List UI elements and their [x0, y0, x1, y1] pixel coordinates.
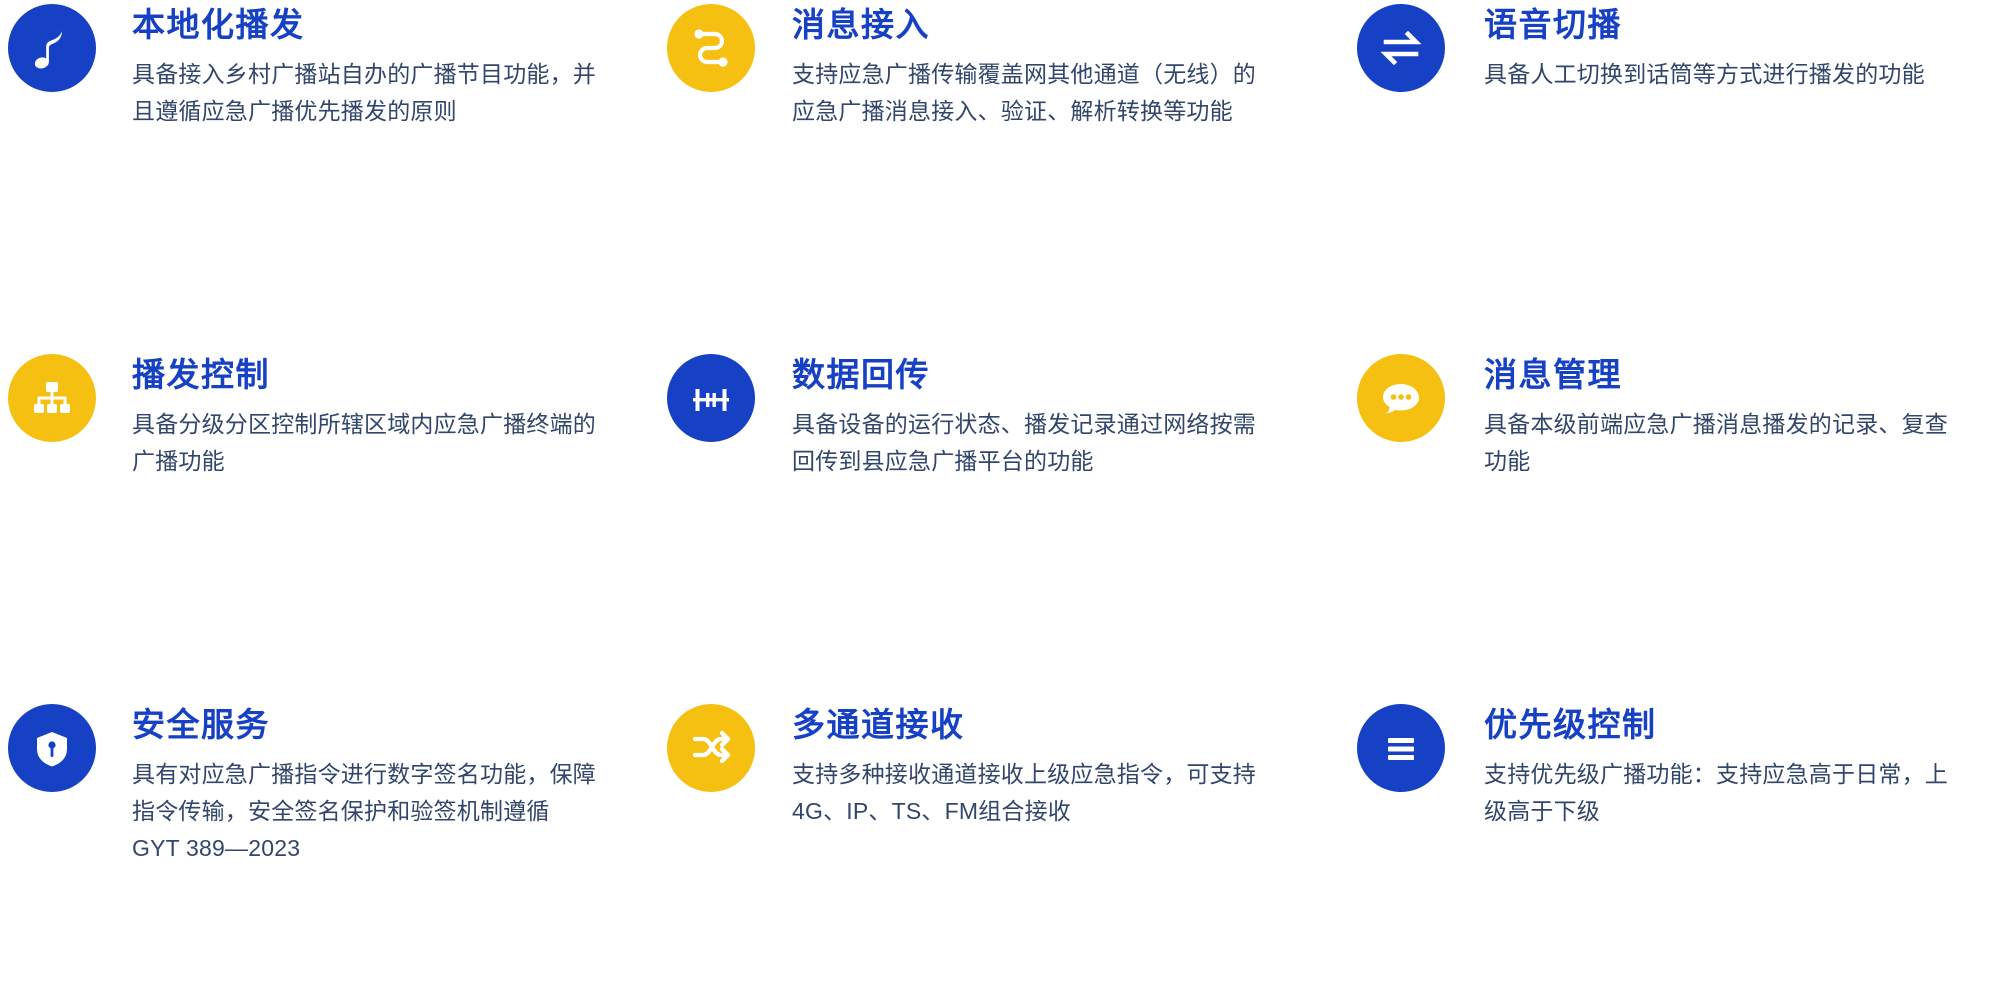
feature-text: 本地化播发 具备接入乡村广播站自办的广播节目功能，并且遵循应急广播优先播发的原则 [108, 4, 660, 130]
shuffle-icon [667, 704, 755, 792]
feature-description: 支持多种接收通道接收上级应急指令，可支持4G、IP、TS、FM组合接收 [792, 756, 1272, 831]
feature-text: 播发控制 具备分级分区控制所辖区域内应急广播终端的广播功能 [108, 354, 660, 480]
icon-container [0, 354, 108, 442]
icon-container [1350, 4, 1458, 92]
feature-text: 多通道接收 支持多种接收通道接收上级应急指令，可支持4G、IP、TS、FM组合接… [768, 704, 1350, 830]
feature-description: 具备接入乡村广播站自办的广播节目功能，并且遵循应急广播优先播发的原则 [132, 56, 602, 131]
icon-container [0, 4, 108, 92]
feature-title: 消息管理 [1484, 356, 2001, 394]
feature-title: 安全服务 [132, 706, 660, 744]
icon-container [0, 704, 108, 792]
music-note-icon [8, 4, 96, 92]
feature-text: 消息管理 具备本级前端应急广播消息播发的记录、复查功能 [1458, 354, 2001, 480]
icon-container [1350, 704, 1458, 792]
feature-description: 具有对应急广播指令进行数字签名功能，保障指令传输，安全签名保护和验签机制遵循 G… [132, 756, 602, 868]
feature-title: 语音切播 [1484, 6, 2001, 44]
feature-card-data-return[interactable]: 数据回传 具备设备的运行状态、播发记录通过网络按需回传到县应急广播平台的功能 [660, 350, 1350, 700]
feature-text: 安全服务 具有对应急广播指令进行数字签名功能，保障指令传输，安全签名保护和验签机… [108, 704, 660, 868]
menu-lines-icon [1357, 704, 1445, 792]
feature-card-localized-broadcast[interactable]: 本地化播发 具备接入乡村广播站自办的广播节目功能，并且遵循应急广播优先播发的原则 [0, 0, 660, 350]
feature-title: 多通道接收 [792, 706, 1350, 744]
feature-description: 支持应急广播传输覆盖网其他通道（无线）的应急广播消息接入、验证、解析转换等功能 [792, 56, 1272, 131]
feature-title: 消息接入 [792, 6, 1350, 44]
feature-text: 语音切播 具备人工切换到话筒等方式进行播发的功能 [1458, 4, 2001, 93]
feature-card-voice-switch[interactable]: 语音切播 具备人工切换到话筒等方式进行播发的功能 [1350, 0, 2001, 350]
icon-container [660, 354, 768, 442]
feature-description: 具备分级分区控制所辖区域内应急广播终端的广播功能 [132, 406, 602, 481]
feature-card-message-management[interactable]: 消息管理 具备本级前端应急广播消息播发的记录、复查功能 [1350, 350, 2001, 700]
feature-description: 支持优先级广播功能：支持应急高于日常，上级高于下级 [1484, 756, 1964, 831]
feature-card-security-service[interactable]: 安全服务 具有对应急广播指令进行数字签名功能，保障指令传输，安全签名保护和验签机… [0, 700, 660, 981]
shield-icon [8, 704, 96, 792]
feature-title: 数据回传 [792, 356, 1350, 394]
feature-description: 具备设备的运行状态、播发记录通过网络按需回传到县应急广播平台的功能 [792, 406, 1272, 481]
chat-bubble-icon [1357, 354, 1445, 442]
feature-title: 播发控制 [132, 356, 660, 394]
feature-grid-board: 本地化播发 具备接入乡村广播站自办的广播节目功能，并且遵循应急广播优先播发的原则… [0, 0, 2001, 981]
icon-container [660, 704, 768, 792]
feature-card-priority-control[interactable]: 优先级控制 支持优先级广播功能：支持应急高于日常，上级高于下级 [1350, 700, 2001, 981]
node-path-icon [667, 4, 755, 92]
feature-text: 数据回传 具备设备的运行状态、播发记录通过网络按需回传到县应急广播平台的功能 [768, 354, 1350, 480]
icon-container [660, 4, 768, 92]
icon-container [1350, 354, 1458, 442]
feature-title: 本地化播发 [132, 6, 660, 44]
sitemap-icon [8, 354, 96, 442]
feature-text: 消息接入 支持应急广播传输覆盖网其他通道（无线）的应急广播消息接入、验证、解析转… [768, 4, 1350, 130]
feature-card-message-access[interactable]: 消息接入 支持应急广播传输覆盖网其他通道（无线）的应急广播消息接入、验证、解析转… [660, 0, 1350, 350]
feature-description: 具备人工切换到话筒等方式进行播发的功能 [1484, 56, 1964, 93]
feature-card-multichannel-receive[interactable]: 多通道接收 支持多种接收通道接收上级应急指令，可支持4G、IP、TS、FM组合接… [660, 700, 1350, 981]
feature-card-broadcast-control[interactable]: 播发控制 具备分级分区控制所辖区域内应急广播终端的广播功能 [0, 350, 660, 700]
data-transfer-icon [667, 354, 755, 442]
feature-text: 优先级控制 支持优先级广播功能：支持应急高于日常，上级高于下级 [1458, 704, 2001, 830]
feature-title: 优先级控制 [1484, 706, 2001, 744]
swap-arrows-icon [1357, 4, 1445, 92]
feature-grid: 本地化播发 具备接入乡村广播站自办的广播节目功能，并且遵循应急广播优先播发的原则… [0, 0, 2001, 981]
feature-description: 具备本级前端应急广播消息播发的记录、复查功能 [1484, 406, 1964, 481]
